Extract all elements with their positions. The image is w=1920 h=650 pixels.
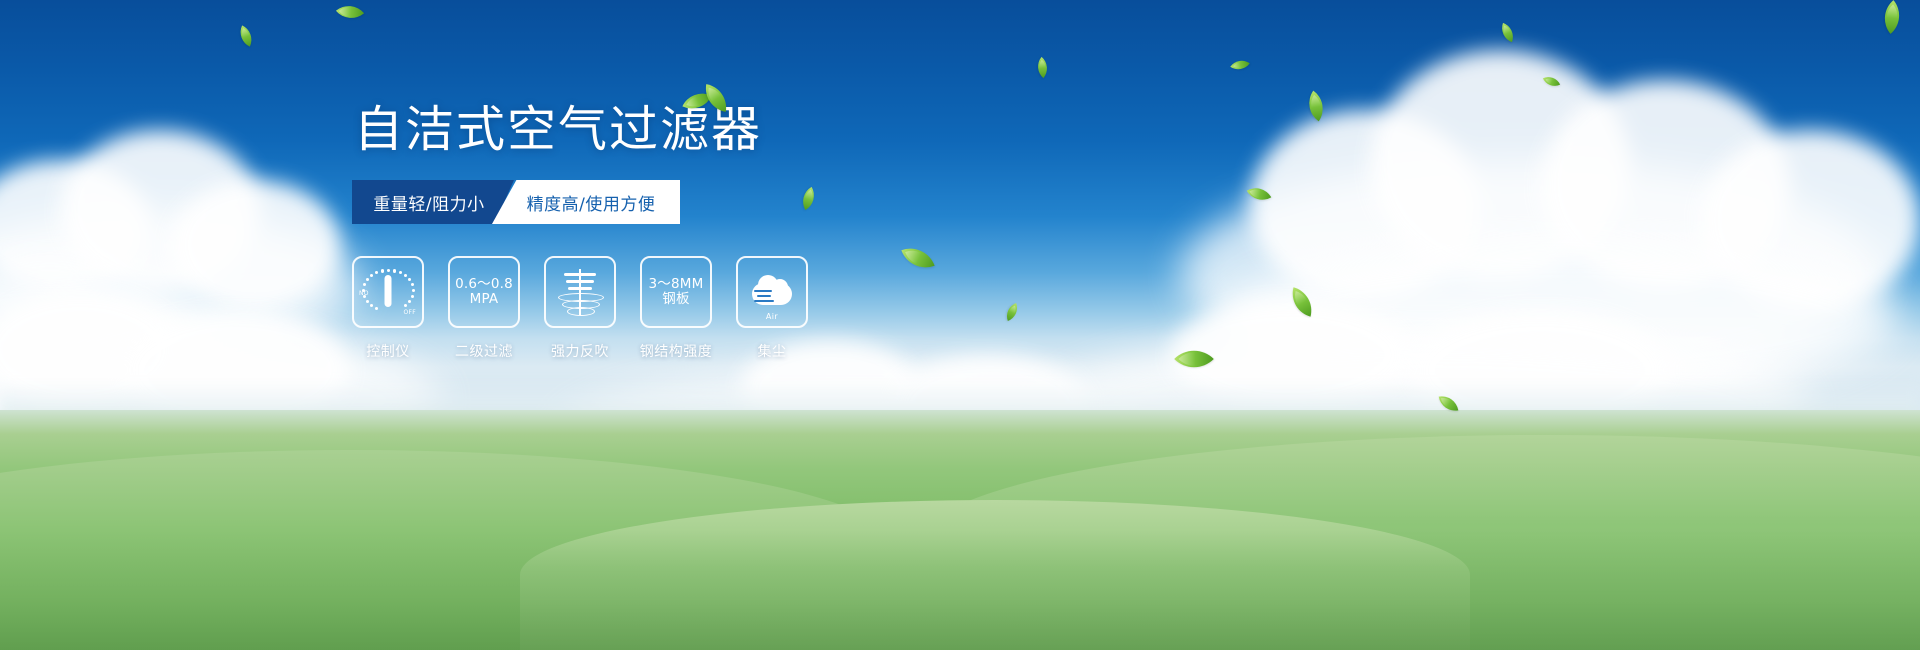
tab-label-0: 重量轻/阻力小 xyxy=(373,190,484,215)
tab-label-1: 精度高/使用方便 xyxy=(527,190,656,215)
tab-high-precision-easy-use[interactable]: 精度高/使用方便 xyxy=(492,180,680,224)
feature-box-0: NO OFF xyxy=(352,256,424,328)
feature-label-0: 控制仪 xyxy=(366,341,410,361)
feature-label-4: 集尘 xyxy=(758,341,787,361)
steel-plate-text-icon-line2: 钢板 xyxy=(662,292,689,307)
control-dial-icon: NO OFF xyxy=(360,266,416,318)
feature-item-dust-collection[interactable]: Air 集尘 xyxy=(738,256,806,361)
feature-item-steel-strength[interactable]: 3～8MM 钢板 钢结构强度 xyxy=(642,256,710,361)
feature-item-strong-backblow[interactable]: 强力反吹 xyxy=(546,256,614,361)
feature-box-3: 3～8MM 钢板 xyxy=(640,256,712,328)
air-cloud-icon-label: Air xyxy=(748,313,796,322)
pressure-text-icon-line2: MPA xyxy=(470,292,499,307)
grass-field xyxy=(0,410,1920,650)
feature-icon-row: NO OFF xyxy=(354,256,980,361)
banner-content: 自洁式空气过滤器 重量轻/阻力小 精度高/使用方便 NO OFF xyxy=(340,105,980,361)
page-title: 自洁式空气过滤器 xyxy=(354,105,980,154)
feature-box-1: 0.6～0.8 MPA xyxy=(448,256,520,328)
feature-label-2: 强力反吹 xyxy=(551,341,609,361)
feature-label-3: 钢结构强度 xyxy=(640,341,713,361)
tab-lightweight-low-resistance[interactable]: 重量轻/阻力小 xyxy=(352,180,514,224)
pressure-text-icon-line1: 0.6～0.8 xyxy=(455,277,513,292)
feature-box-4: Air xyxy=(736,256,808,328)
grass-shadow xyxy=(0,530,1920,650)
steel-plate-text-icon-line1: 3～8MM xyxy=(649,277,704,292)
feature-item-two-stage-filtration[interactable]: 0.6～0.8 MPA 二级过滤 xyxy=(450,256,518,361)
feature-tabs: 重量轻/阻力小 精度高/使用方便 xyxy=(352,180,680,224)
coil-blowback-icon xyxy=(558,267,602,317)
air-cloud-icon: Air xyxy=(748,273,796,311)
feature-box-2 xyxy=(544,256,616,328)
feature-item-control-instrument[interactable]: NO OFF xyxy=(354,256,422,361)
feature-label-1: 二级过滤 xyxy=(455,341,513,361)
hero-banner: 自洁式空气过滤器 重量轻/阻力小 精度高/使用方便 NO OFF xyxy=(0,0,1920,650)
dial-label-off: OFF xyxy=(403,310,416,317)
